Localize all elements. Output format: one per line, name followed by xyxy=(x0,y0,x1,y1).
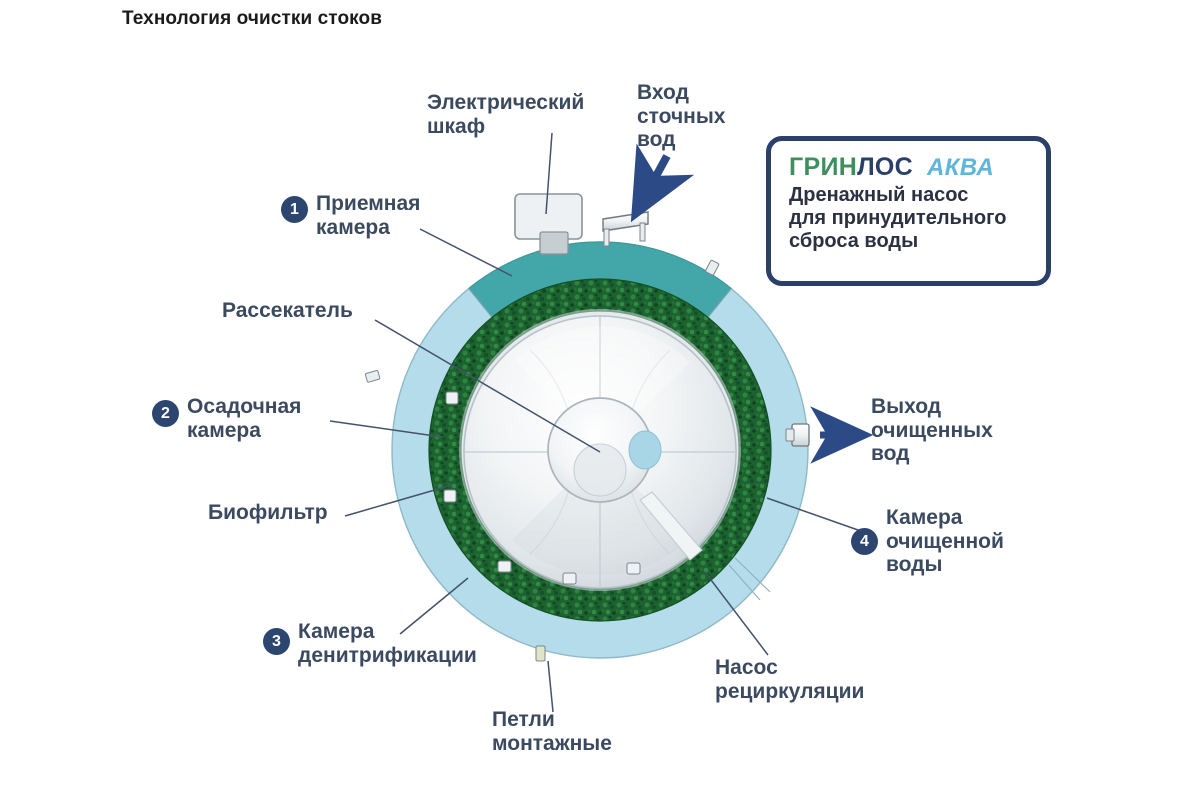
inlet-arrow xyxy=(637,156,667,211)
callout-kamera-denitrifikacii: Камера денитрификации xyxy=(268,620,477,667)
callout-priemnaya-kamera: Приемная камера xyxy=(286,192,420,239)
distributor-dome xyxy=(459,309,741,591)
brand-badge: ГРИНЛОСАКВА Дренажный насос для принудит… xyxy=(766,136,1051,286)
callout-kamera-ochishchennoy-vody: Камера очищенной воды xyxy=(856,506,1004,577)
callout-nasos-recirkulyacii: Насос рециркуляции xyxy=(715,656,864,703)
inlet-pipe xyxy=(603,212,648,246)
mounting-loop-bottom xyxy=(536,646,545,661)
diagram-page: Технология очистки стоков xyxy=(0,0,1200,800)
brand-description: Дренажный насос для принудительного сбро… xyxy=(789,184,1046,252)
brand-name-part2: ЛОС xyxy=(857,153,913,181)
callout-elektricheskiy-shkaf: Электрический шкаф xyxy=(427,91,584,138)
callout-biofiltr: Биофильтр xyxy=(208,501,328,525)
callout-vhod-stochnyh-vod: Вход сточных вод xyxy=(637,81,725,152)
callout-rassekatel: Рассекатель xyxy=(222,299,353,323)
float-sensor xyxy=(629,431,661,469)
callout-petli-montazhnye: Петли монтажные xyxy=(492,708,612,755)
brand-name: ГРИНЛОСАКВА xyxy=(789,153,1046,182)
leader-priemnaya-kamera xyxy=(420,229,512,276)
leader-petli-montazhnye xyxy=(548,661,553,712)
ring-nozzle-left xyxy=(365,370,380,382)
callout-vyhod-ochishchennyh-vod: Выход очищенных вод xyxy=(871,395,993,466)
brand-name-part3: АКВА xyxy=(927,154,994,181)
callout-osadochnaya-kamera: Осадочная камера xyxy=(157,395,301,442)
brand-name-part1: ГРИН xyxy=(789,153,857,181)
